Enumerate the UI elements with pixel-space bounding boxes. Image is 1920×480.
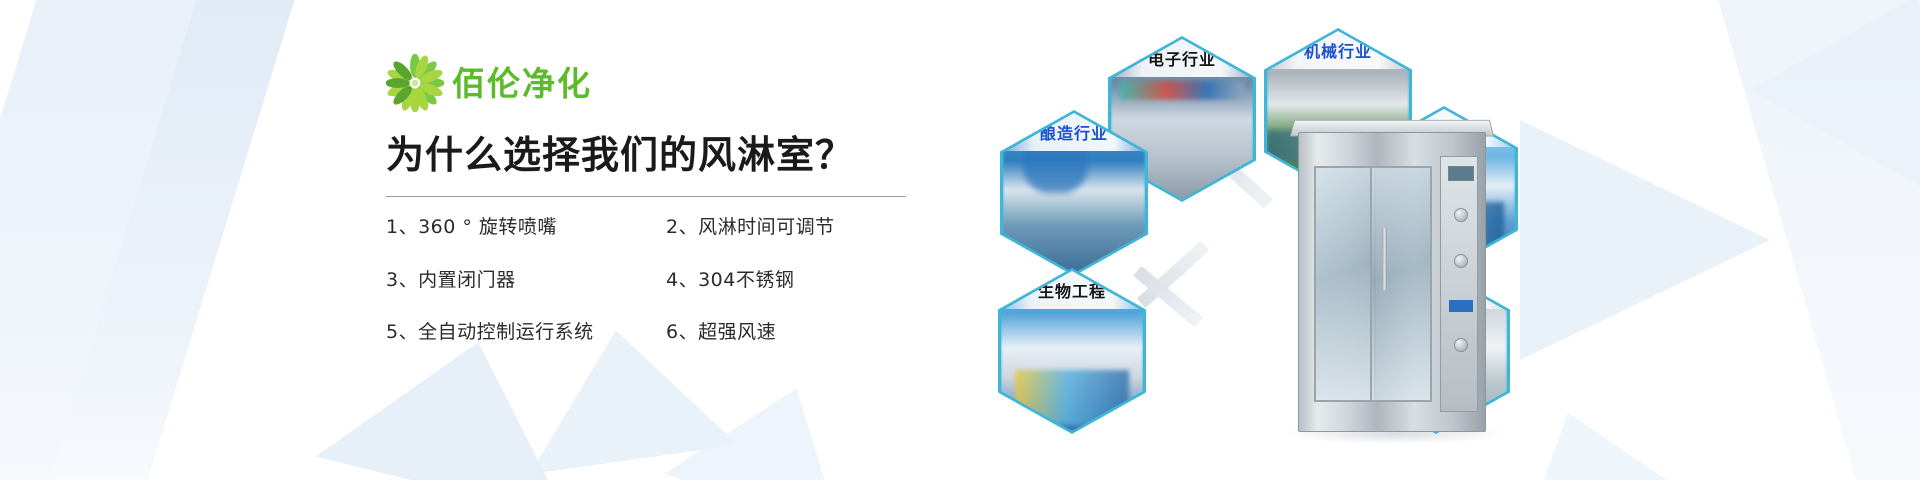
cabinet-door-glass-right	[1370, 166, 1432, 402]
feature-list: 1、360 ° 旋转喷嘴 2、风淋时间可调节 3、内置闭门器 4、304不锈钢 …	[386, 217, 926, 344]
cabinet-door-handle	[1382, 228, 1387, 290]
cabinet-knob-2	[1454, 254, 1468, 268]
title-divider	[386, 196, 906, 197]
cabinet-knob-1	[1454, 208, 1468, 222]
feature-item-6: 6、超强风速	[666, 322, 926, 343]
feature-item-2: 2、风淋时间可调节	[666, 217, 926, 238]
page-title: 为什么选择我们的风淋室？	[386, 134, 926, 178]
cabinet-display-screen	[1448, 166, 1474, 181]
hex-label-electronics: 电子行业	[1111, 39, 1253, 77]
hex-label-machinery: 机械行业	[1267, 31, 1409, 69]
feature-item-5: 5、全自动控制运行系统	[386, 322, 666, 343]
cabinet-knob-3	[1454, 338, 1468, 352]
hex-inner: 生物工程	[1001, 271, 1143, 431]
cabinet-door-glass-left	[1314, 166, 1376, 402]
brand-lockup: 佰伦净化	[386, 54, 926, 112]
hex-label-biotech: 生物工程	[1001, 271, 1143, 309]
green-flower-logo-icon	[386, 54, 444, 112]
cabinet-badge	[1449, 300, 1473, 312]
banner-text-column: 佰伦净化 为什么选择我们的风淋室？ 1、360 ° 旋转喷嘴 2、风淋时间可调节…	[386, 54, 926, 343]
industry-hexagon-cluster: 电子行业 机械行业 酿造行业 医药行业	[980, 0, 1920, 480]
feature-item-4: 4、304不锈钢	[666, 270, 926, 291]
bg-shape-triangle-c	[664, 356, 885, 480]
brand-name: 佰伦净化	[452, 67, 592, 100]
feature-item-3: 3、内置闭门器	[386, 270, 666, 291]
feature-item-1: 1、360 ° 旋转喷嘴	[386, 217, 666, 238]
bg-shape-left-band-2	[25, 0, 405, 480]
air-shower-cabinet-image	[1298, 132, 1486, 432]
promo-banner: 佰伦净化 为什么选择我们的风淋室？ 1、360 ° 旋转喷嘴 2、风淋时间可调节…	[0, 0, 1920, 480]
cabinet-control-panel	[1440, 156, 1478, 412]
hex-tile-biotech[interactable]: 生物工程	[998, 268, 1146, 434]
